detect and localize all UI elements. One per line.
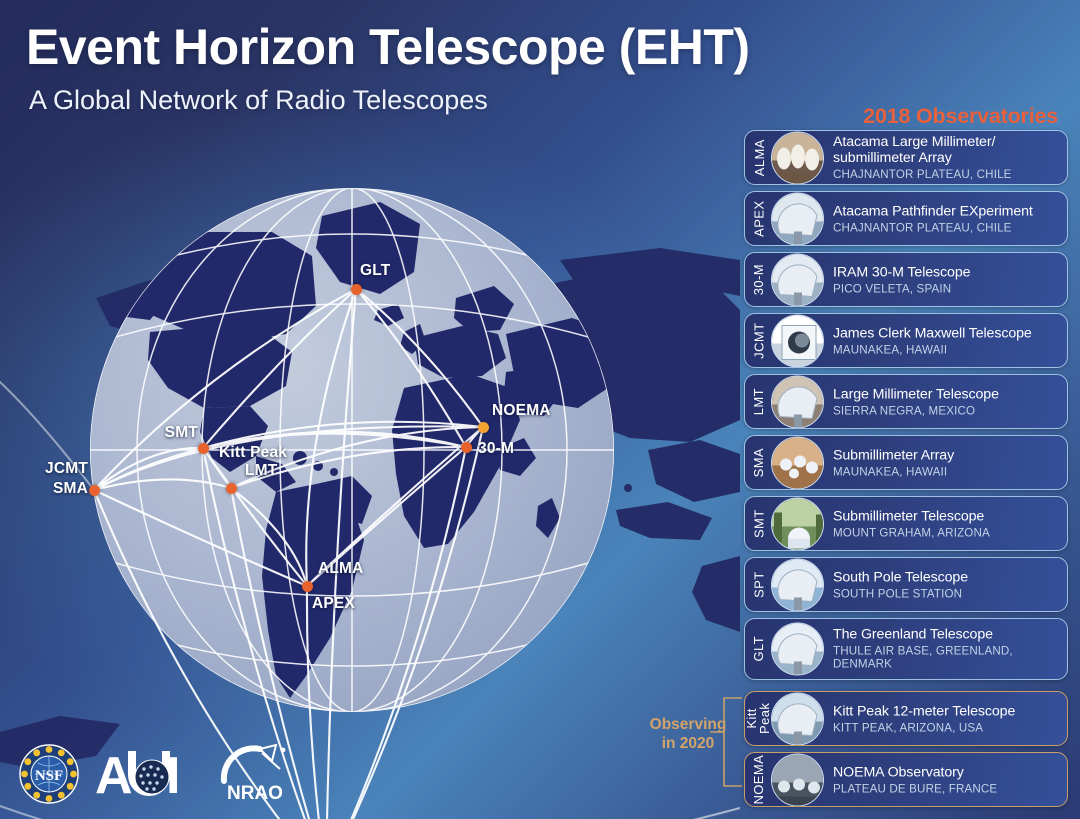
map-marker-jcmt[interactable] [89, 485, 100, 496]
observatories-panel: 2018 Observatories ALMAAtacama Large Mil… [738, 100, 1080, 819]
observatory-text: Submillimeter TelescopeMOUNT GRAHAM, ARI… [833, 508, 1059, 539]
lmt-dish-photo [771, 375, 824, 428]
observatory-text: Kitt Peak 12-meter TelescopeKITT PEAK, A… [833, 703, 1059, 734]
observatory-name: The Greenland Telescope [833, 627, 1059, 643]
nrao-logo: NRAO [216, 743, 294, 805]
observatory-acronym: NOEMA [745, 753, 773, 806]
observatory-text: James Clerk Maxwell TelescopeMAUNAKEA, H… [833, 325, 1059, 356]
observatory-acronym-text: KittPeak [746, 703, 773, 734]
observatory-acronym: SMA [745, 436, 773, 489]
map-marker-lmt[interactable] [226, 483, 237, 494]
observatory-acronym: JCMT [745, 314, 773, 367]
observatory-acronym: LMT [745, 375, 773, 428]
observatory-acronym: 30-M [745, 253, 773, 306]
observatory-name: IRAM 30-M Telescope [833, 264, 1059, 280]
observatory-location: MOUNT GRAHAM, ARIZONA [833, 526, 1059, 539]
observatory-name: James Clerk Maxwell Telescope [833, 325, 1059, 341]
observatory-name: Atacama Large Millimeter/submillimeter A… [833, 134, 1059, 166]
kitt-peak-dish-photo [771, 692, 824, 745]
observatory-acronym: SPT [745, 558, 773, 611]
observatory-name: South Pole Telescope [833, 569, 1059, 585]
observatory-text: Atacama Large Millimeter/submillimeter A… [833, 134, 1059, 182]
observatory-location: SOUTH POLE STATION [833, 587, 1059, 600]
observatory-location: PICO VELETA, SPAIN [833, 282, 1059, 295]
observatory-text: NOEMA ObservatoryPLATEAU DE BURE, FRANCE [833, 764, 1059, 795]
observatory-acronym-text: LMT [752, 388, 765, 415]
svg-text:A: A [95, 747, 133, 803]
smt-dome-photo [771, 497, 824, 550]
observatory-card-apex[interactable]: APEXAtacama Pathfinder EXperimentCHAJNAN… [744, 191, 1068, 246]
observatory-acronym-text: SMT [752, 509, 765, 538]
observatory-acronym: KittPeak [745, 692, 773, 745]
observatory-location: MAUNAKEA, HAWAII [833, 465, 1059, 478]
glt-dish-photo [771, 623, 824, 676]
observatory-location: THULE AIR BASE, GREENLAND,DENMARK [833, 645, 1059, 672]
observatory-name: Submillimeter Array [833, 447, 1059, 463]
page-subtitle: A Global Network of Radio Telescopes [29, 85, 488, 116]
observatory-acronym-text: SPT [752, 571, 765, 597]
map-label-30-m: 30-M [478, 440, 514, 458]
observatory-card-kitt-peak[interactable]: KittPeakKitt Peak 12-meter TelescopeKITT… [744, 691, 1068, 746]
observatory-name: Kitt Peak 12-meter Telescope [833, 703, 1059, 719]
observatory-name: Atacama Pathfinder EXperiment [833, 203, 1059, 219]
observatory-acronym-text: ALMA [752, 139, 765, 176]
observatory-acronym: APEX [745, 192, 773, 245]
world-map: GLTSMTKitt PeakLMTJCMTSMANOEMA30-MALMAAP… [0, 120, 740, 819]
observatory-acronym: GLT [745, 619, 773, 679]
map-label-lmt: LMT [245, 462, 277, 480]
infographic-root: Event Horizon Telescope (EHT) A Global N… [0, 0, 1080, 819]
apex-dish-photo [771, 192, 824, 245]
map-marker-glt[interactable] [351, 284, 362, 295]
observatory-card-lmt[interactable]: LMTLarge Millimeter TelescopeSIERRA NEGR… [744, 374, 1068, 429]
aui-logo: A I [94, 745, 202, 803]
svg-text:NRAO: NRAO [227, 783, 283, 804]
observatory-card-sma[interactable]: SMASubmillimeter ArrayMAUNAKEA, HAWAII [744, 435, 1068, 490]
panel-title: 2018 Observatories [863, 104, 1058, 129]
observatory-acronym-text: JCMT [752, 322, 765, 358]
observatory-text: South Pole TelescopeSOUTH POLE STATION [833, 569, 1059, 600]
map-label-kitt-peak: Kitt Peak [219, 444, 287, 462]
observatory-acronym-text: NOEMA [752, 755, 765, 805]
map-marker-noema[interactable] [478, 422, 489, 433]
observatory-acronym-text: SMA [752, 448, 765, 477]
observatory-acronym-text: GLT [752, 636, 765, 662]
observatory-location: MAUNAKEA, HAWAII [833, 343, 1059, 356]
observatory-acronym-text: 30-M [752, 264, 765, 295]
observatory-location: KITT PEAK, ARIZONA, USA [833, 721, 1059, 734]
map-label-noema: NOEMA [492, 402, 551, 420]
svg-text:NSF: NSF [35, 768, 63, 784]
observatory-text: IRAM 30-M TelescopePICO VELETA, SPAIN [833, 264, 1059, 295]
observatory-card-30-m[interactable]: 30-MIRAM 30-M TelescopePICO VELETA, SPAI… [744, 252, 1068, 307]
observatory-acronym-text: APEX [752, 200, 765, 236]
observatory-location: CHAJNANTOR PLATEAU, CHILE [833, 221, 1059, 234]
map-svg [0, 120, 740, 819]
logo-row: NSF A I NRAO [18, 739, 294, 809]
observatory-card-jcmt[interactable]: JCMTJames Clerk Maxwell TelescopeMAUNAKE… [744, 313, 1068, 368]
sma-antennas-photo [771, 436, 824, 489]
map-label-alma: ALMA [318, 560, 364, 578]
alma-dish-array-photo [771, 131, 824, 184]
observatory-card-spt[interactable]: SPTSouth Pole TelescopeSOUTH POLE STATIO… [744, 557, 1068, 612]
map-marker-smt[interactable] [198, 443, 209, 454]
observatory-card-smt[interactable]: SMTSubmillimeter TelescopeMOUNT GRAHAM, … [744, 496, 1068, 551]
observatory-text: Atacama Pathfinder EXperimentCHAJNANTOR … [833, 203, 1059, 234]
observatory-text: The Greenland TelescopeTHULE AIR BASE, G… [833, 627, 1059, 672]
jcmt-enclosure-photo [771, 314, 824, 367]
observatory-location: SIERRA NEGRA, MEXICO [833, 404, 1059, 417]
observatory-location: CHAJNANTOR PLATEAU, CHILE [833, 168, 1059, 181]
iram-30m-dish-photo [771, 253, 824, 306]
noema-antennas-photo [771, 753, 824, 806]
page-title: Event Horizon Telescope (EHT) [26, 18, 750, 76]
observatory-card-noema[interactable]: NOEMANOEMA ObservatoryPLATEAU DE BURE, F… [744, 752, 1068, 807]
map-marker-30-m[interactable] [461, 442, 472, 453]
observatory-acronym: SMT [745, 497, 773, 550]
map-label-glt: GLT [360, 262, 390, 280]
observatory-text: Submillimeter ArrayMAUNAKEA, HAWAII [833, 447, 1059, 478]
observatory-card-glt[interactable]: GLTThe Greenland TelescopeTHULE AIR BASE… [744, 618, 1068, 680]
observatory-acronym: ALMA [745, 131, 773, 184]
observatory-card-alma[interactable]: ALMAAtacama Large Millimeter/submillimet… [744, 130, 1068, 185]
spt-dish-photo [771, 558, 824, 611]
map-label-apex: APEX [312, 595, 355, 613]
observatory-name: Large Millimeter Telescope [833, 386, 1059, 402]
observatory-name: NOEMA Observatory [833, 764, 1059, 780]
map-label-jcmt: JCMT [0, 460, 88, 478]
map-marker-alma[interactable] [302, 581, 313, 592]
observatory-location: PLATEAU DE BURE, FRANCE [833, 782, 1059, 795]
map-label-sma: SMA [0, 480, 88, 498]
map-label-smt: SMT [0, 424, 198, 442]
observatory-name: Submillimeter Telescope [833, 508, 1059, 524]
nsf-logo: NSF [18, 743, 80, 805]
observatory-text: Large Millimeter TelescopeSIERRA NEGRA, … [833, 386, 1059, 417]
